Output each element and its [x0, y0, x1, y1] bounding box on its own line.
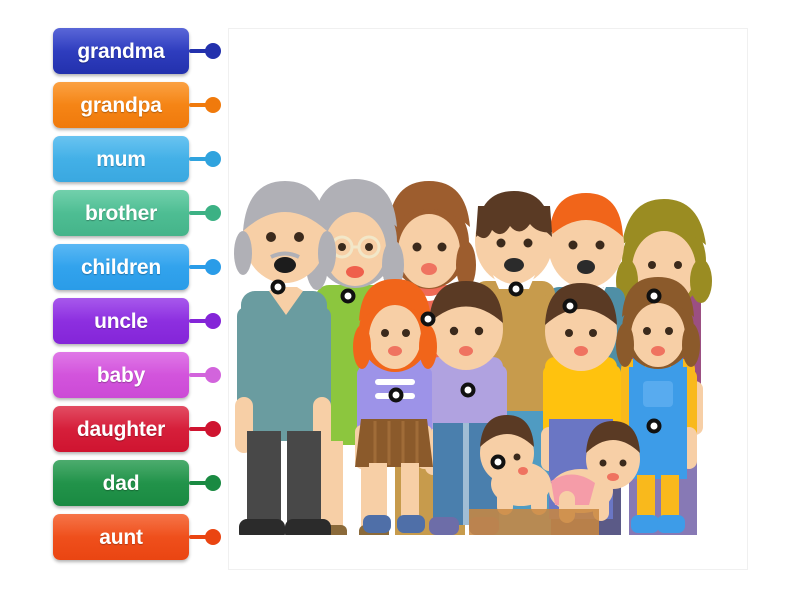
- labelled-diagram-app: grandmagrandpamumbrotherchildrenunclebab…: [0, 0, 800, 600]
- label-text: children: [81, 257, 161, 278]
- drop-target-marker-7[interactable]: [389, 388, 404, 403]
- family-illustration: [229, 29, 748, 570]
- label-row-aunt[interactable]: aunt: [53, 514, 223, 560]
- label-knob-uncle[interactable]: [205, 313, 221, 329]
- label-text: brother: [85, 203, 157, 224]
- label-pill-daughter[interactable]: daughter: [53, 406, 189, 452]
- label-text: mum: [96, 149, 146, 170]
- label-knob-children[interactable]: [205, 259, 221, 275]
- figure-boy-lavender: [425, 281, 507, 535]
- drop-target-marker-9[interactable]: [647, 419, 662, 434]
- label-knob-daughter[interactable]: [205, 421, 221, 437]
- label-text: aunt: [99, 527, 143, 548]
- drop-target-marker-8[interactable]: [461, 383, 476, 398]
- label-row-baby[interactable]: baby: [53, 352, 223, 398]
- label-text: grandpa: [80, 95, 161, 116]
- label-text: uncle: [94, 311, 148, 332]
- label-row-uncle[interactable]: uncle: [53, 298, 223, 344]
- label-text: dad: [103, 473, 140, 494]
- drop-target-marker-6[interactable]: [647, 289, 662, 304]
- image-panel: [228, 28, 748, 570]
- label-knob-baby[interactable]: [205, 367, 221, 383]
- label-knob-grandpa[interactable]: [205, 97, 221, 113]
- label-knob-dad[interactable]: [205, 475, 221, 491]
- drop-target-marker-3[interactable]: [421, 312, 436, 327]
- label-pill-aunt[interactable]: aunt: [53, 514, 189, 560]
- label-row-daughter[interactable]: daughter: [53, 406, 223, 452]
- label-knob-brother[interactable]: [205, 205, 221, 221]
- label-knob-aunt[interactable]: [205, 529, 221, 545]
- label-row-brother[interactable]: brother: [53, 190, 223, 236]
- label-list: grandmagrandpamumbrotherchildrenunclebab…: [53, 28, 223, 570]
- label-pill-children[interactable]: children: [53, 244, 189, 290]
- label-knob-mum[interactable]: [205, 151, 221, 167]
- label-row-grandpa[interactable]: grandpa: [53, 82, 223, 128]
- label-row-children[interactable]: children: [53, 244, 223, 290]
- label-knob-grandma[interactable]: [205, 43, 221, 59]
- drop-target-marker-10[interactable]: [491, 455, 506, 470]
- label-pill-dad[interactable]: dad: [53, 460, 189, 506]
- drop-target-marker-1[interactable]: [271, 280, 286, 295]
- label-pill-baby[interactable]: baby: [53, 352, 189, 398]
- drop-target-marker-2[interactable]: [341, 289, 356, 304]
- label-pill-mum[interactable]: mum: [53, 136, 189, 182]
- label-pill-brother[interactable]: brother: [53, 190, 189, 236]
- drop-target-marker-5[interactable]: [563, 299, 578, 314]
- label-row-dad[interactable]: dad: [53, 460, 223, 506]
- label-text: grandma: [77, 41, 164, 62]
- label-text: baby: [97, 365, 145, 386]
- label-pill-uncle[interactable]: uncle: [53, 298, 189, 344]
- label-row-mum[interactable]: mum: [53, 136, 223, 182]
- drop-target-marker-4[interactable]: [509, 282, 524, 297]
- label-pill-grandma[interactable]: grandma: [53, 28, 189, 74]
- label-text: daughter: [77, 419, 165, 440]
- label-pill-grandpa[interactable]: grandpa: [53, 82, 189, 128]
- label-row-grandma[interactable]: grandma: [53, 28, 223, 74]
